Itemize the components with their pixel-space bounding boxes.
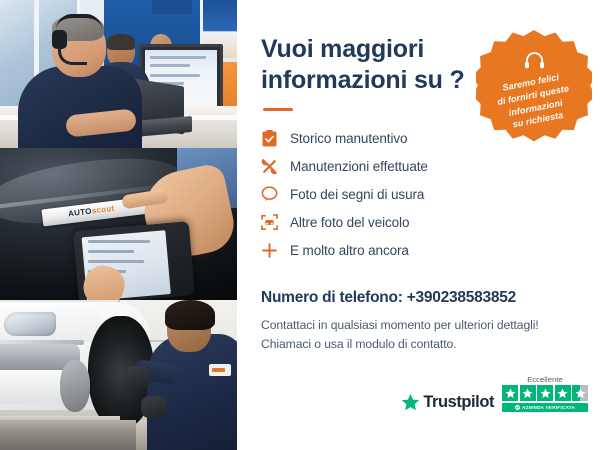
advertisement-banner: AUTOscout <box>0 0 600 450</box>
plus-icon <box>261 242 278 259</box>
title-divider <box>263 108 293 111</box>
star-icon-half <box>572 385 588 401</box>
feature-label: Foto dei segni di usura <box>290 187 424 202</box>
trustpilot-score: Eccellente <box>502 375 588 413</box>
photo-column: AUTOscout <box>0 0 237 450</box>
call-center-agent-headset-photo <box>0 0 237 148</box>
page-title: Vuoi maggiori informazioni su ? <box>261 34 466 95</box>
phone-number-label: Numero di telefono: +390238583852 <box>261 289 578 307</box>
star-rating <box>502 385 588 401</box>
feature-label: Altre foto del veicolo <box>290 215 409 230</box>
rating-label: Eccellente <box>527 375 563 384</box>
trustpilot-brand-label: Trustpilot <box>423 393 494 412</box>
feature-item-molto-altro-ancora: E molto altro ancora <box>261 237 578 263</box>
callout-starburst-badge: Saremo felici di fornirti queste informa… <box>476 30 592 146</box>
speech-bubble-icon <box>261 186 278 203</box>
feature-label: Manutenzioni effettuate <box>290 159 428 174</box>
feature-item-foto-segni-usura: Foto dei segni di usura <box>261 181 578 207</box>
star-icon-full <box>520 385 536 401</box>
badge-text: Saremo felici di fornirti queste informa… <box>493 70 574 134</box>
feature-label: Storico manutentivo <box>290 131 407 146</box>
verified-label: AZIENDA VERIFICATA <box>522 405 575 410</box>
star-icon-full <box>502 385 518 401</box>
contact-body-line-2: Chiamaci o usa il modulo di contatto. <box>261 335 578 354</box>
clipboard-check-icon <box>261 130 278 147</box>
star-icon-full <box>537 385 553 401</box>
feature-item-manutenzioni-effettuate: Manutenzioni effettuate <box>261 153 578 179</box>
feature-item-altre-foto-veicolo: Altre foto del veicolo <box>261 209 578 235</box>
trustpilot-rating-widget[interactable]: Trustpilot Eccellente <box>401 375 588 413</box>
trustpilot-logo: Trustpilot <box>401 393 494 412</box>
content-panel: Vuoi maggiori informazioni su ? Saremo f… <box>237 0 600 450</box>
strip-brand-label: AUTOscout <box>68 204 115 219</box>
car-bumper-inspection-tablet-photo: AUTOscout <box>0 148 237 300</box>
tools-cross-icon <box>261 158 278 175</box>
feature-label: E molto altro ancora <box>290 243 409 258</box>
check-icon <box>515 405 520 410</box>
mechanic-wheel-inspection-lift-photo <box>0 300 237 450</box>
verified-business-badge: AZIENDA VERIFICATA <box>502 403 588 412</box>
contact-body-copy: Contattaci in qualsiasi momento per ulte… <box>261 316 578 353</box>
star-icon-full <box>555 385 571 401</box>
photo-frame-icon <box>261 214 278 231</box>
trustpilot-star-icon <box>401 393 420 412</box>
headset-icon <box>524 51 545 70</box>
contact-body-line-1: Contattaci in qualsiasi momento per ulte… <box>261 316 578 335</box>
